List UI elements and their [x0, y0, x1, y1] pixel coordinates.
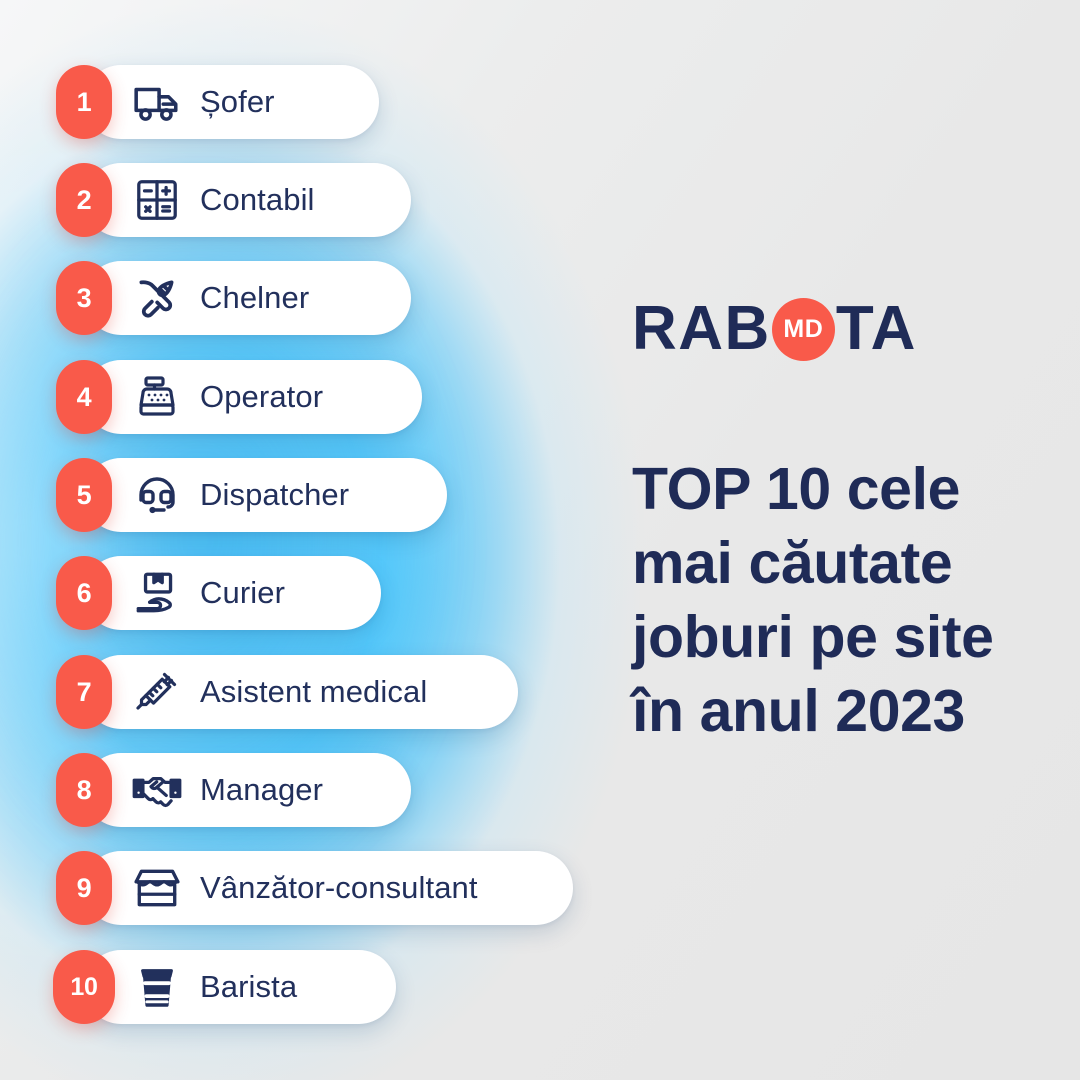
job-title: Asistent medical	[200, 674, 427, 710]
job-title: Șofer	[200, 84, 275, 120]
rank-badge: 7	[56, 655, 112, 729]
package-hand-icon	[130, 566, 184, 620]
rank-badge: 10	[53, 950, 115, 1024]
headline-line-2: mai căutate	[632, 526, 1052, 600]
rank-card[interactable]: 7 Asistent medical	[84, 655, 518, 729]
list-item[interactable]: 10 Barista	[84, 950, 396, 1024]
right-panel: RAB MD TA TOP 10 cele mai căutate joburi…	[630, 0, 1080, 1080]
headset-icon	[130, 468, 184, 522]
fork-knife-icon	[130, 271, 184, 325]
rank-badge: 3	[56, 261, 112, 335]
list-item[interactable]: 8 Manager	[84, 753, 411, 827]
headline-line-4: în anul 2023	[632, 674, 1052, 748]
rank-card[interactable]: 6 Curier	[84, 556, 381, 630]
list-item[interactable]: 9 Vânzător-consultant	[84, 851, 573, 925]
rank-card[interactable]: 10 Barista	[84, 950, 396, 1024]
syringe-icon	[130, 665, 184, 719]
logo-text-part1: RAB	[632, 298, 771, 360]
list-item[interactable]: 4 Operato	[84, 360, 422, 434]
job-title: Chelner	[200, 280, 309, 316]
rank-card[interactable]: 5 Dispatcher	[84, 458, 447, 532]
job-title: Contabil	[200, 182, 315, 218]
ranking-list: 1 Șofer 2	[0, 0, 620, 1080]
job-title: Curier	[200, 575, 285, 611]
list-item[interactable]: 6 Curier	[84, 556, 381, 630]
calculator-icon	[130, 173, 184, 227]
job-title: Manager	[200, 772, 323, 808]
rank-card[interactable]: 1 Șofer	[84, 65, 379, 139]
rank-card[interactable]: 4 Operato	[84, 360, 422, 434]
rank-card[interactable]: 2 Contabil	[84, 163, 411, 237]
rank-badge: 8	[56, 753, 112, 827]
rank-card[interactable]: 3 Chelner	[84, 261, 411, 335]
list-item[interactable]: 3 Chelner	[84, 261, 411, 335]
job-title: Barista	[200, 969, 297, 1005]
coffee-cup-icon	[130, 960, 184, 1014]
rank-badge: 1	[56, 65, 112, 139]
list-item[interactable]: 5 Dispatcher	[84, 458, 447, 532]
logo-md-text: MD	[783, 317, 823, 342]
headline-line-1: TOP 10 cele	[632, 452, 1052, 526]
cash-register-icon	[130, 370, 184, 424]
headline-line-3: joburi pe site	[632, 600, 1052, 674]
page-title: TOP 10 cele mai căutate joburi pe site î…	[632, 452, 1052, 748]
rank-card[interactable]: 8 Manager	[84, 753, 411, 827]
rank-badge: 5	[56, 458, 112, 532]
job-title: Dispatcher	[200, 477, 349, 513]
rank-badge: 9	[56, 851, 112, 925]
job-title: Operator	[200, 379, 323, 415]
logo-text-part2: TA	[836, 298, 917, 360]
poster-canvas: 1 Șofer 2	[0, 0, 1080, 1080]
rank-badge: 2	[56, 163, 112, 237]
logo-md-badge: MD	[772, 298, 835, 361]
list-item[interactable]: 1 Șofer	[84, 65, 379, 139]
handshake-icon	[130, 763, 184, 817]
job-title: Vânzător-consultant	[200, 870, 478, 906]
rank-badge: 4	[56, 360, 112, 434]
rank-card[interactable]: 9 Vânzător-consultant	[84, 851, 573, 925]
rabota-md-logo: RAB MD TA	[632, 297, 917, 360]
list-item[interactable]: 7 Asistent medical	[84, 655, 518, 729]
list-item[interactable]: 2 Contabil	[84, 163, 411, 237]
rank-badge: 6	[56, 556, 112, 630]
storefront-icon	[130, 861, 184, 915]
truck-icon	[130, 75, 184, 129]
